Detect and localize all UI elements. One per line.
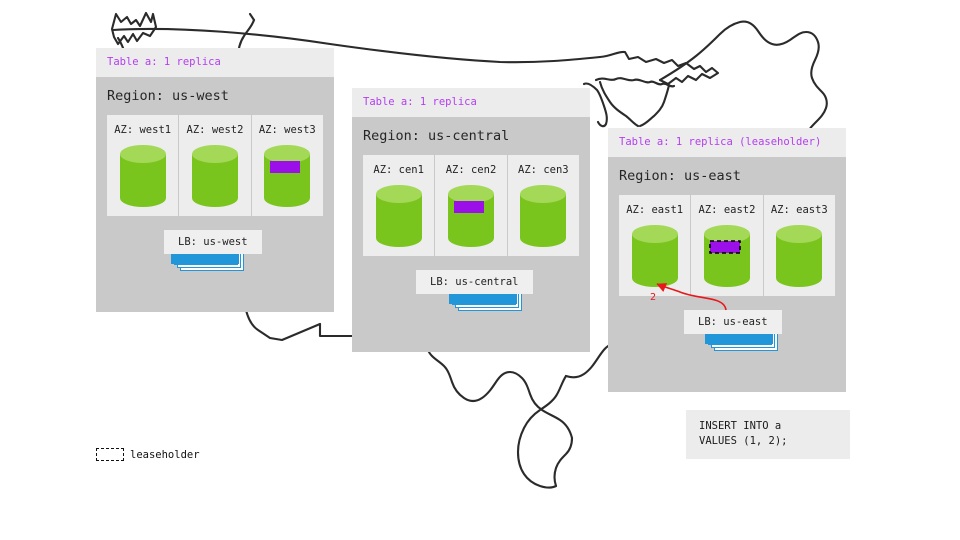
- az-label-west2: AZ: west2: [179, 124, 250, 136]
- replica-marker: [454, 201, 484, 213]
- az-cell-cen2[interactable]: AZ: cen2: [435, 155, 507, 256]
- az-label-east2: AZ: east2: [691, 204, 762, 216]
- load-balancer-us-east[interactable]: LB: us-east: [684, 310, 782, 334]
- cylinder-icon: [118, 143, 168, 209]
- load-balancer-us-west[interactable]: LB: us-west: [164, 230, 262, 254]
- az-strip-us-west: AZ: west1 AZ: west2: [107, 115, 323, 216]
- az-label-cen2: AZ: cen2: [435, 164, 506, 176]
- cylinder-icon: [374, 183, 424, 249]
- region-panel-us-east: Table a: 1 replica (leaseholder) Region:…: [608, 128, 846, 392]
- panel-header-us-west: Table a: 1 replica: [96, 48, 334, 77]
- node-cylinder-cen3[interactable]: [518, 183, 568, 253]
- az-cell-east1[interactable]: AZ: east1: [619, 195, 691, 296]
- region-title-us-east: Region: us-east: [619, 157, 835, 195]
- az-label-cen3: AZ: cen3: [508, 164, 579, 176]
- arrow-step-label-2: 2: [650, 292, 656, 303]
- node-cylinder-cen1[interactable]: [374, 183, 424, 253]
- az-label-west3: AZ: west3: [252, 124, 323, 136]
- panel-body-us-central: Region: us-central AZ: cen1 AZ: cen2: [352, 117, 590, 352]
- region-title-us-west: Region: us-west: [107, 77, 323, 115]
- az-label-east1: AZ: east1: [619, 204, 690, 216]
- node-cylinder-west2[interactable]: [190, 143, 240, 213]
- az-strip-us-east: AZ: east1 AZ: east2: [619, 195, 835, 296]
- region-title-us-central: Region: us-central: [363, 117, 579, 155]
- panel-header-us-east: Table a: 1 replica (leaseholder): [608, 128, 846, 157]
- sql-statement-note: INSERT INTO a VALUES (1, 2);: [686, 410, 850, 459]
- region-panel-us-central: Table a: 1 replica Region: us-central AZ…: [352, 88, 590, 352]
- az-label-cen1: AZ: cen1: [363, 164, 434, 176]
- cylinder-icon: [630, 223, 680, 289]
- panel-body-us-west: Region: us-west AZ: west1 AZ: west2: [96, 77, 334, 312]
- az-cell-cen1[interactable]: AZ: cen1: [363, 155, 435, 256]
- panel-header-us-central: Table a: 1 replica: [352, 88, 590, 117]
- region-panel-us-west: Table a: 1 replica Region: us-west AZ: w…: [96, 48, 334, 312]
- cylinder-icon: [702, 223, 752, 289]
- diagram-canvas: Table a: 1 replica Region: us-west AZ: w…: [0, 0, 960, 540]
- az-label-west1: AZ: west1: [107, 124, 178, 136]
- node-cylinder-west1[interactable]: [118, 143, 168, 213]
- cylinder-icon: [262, 143, 312, 209]
- az-cell-east2[interactable]: AZ: east2: [691, 195, 763, 296]
- node-cylinder-west3[interactable]: [262, 143, 312, 213]
- leaseholder-swatch-icon: [96, 448, 124, 461]
- cylinder-icon: [446, 183, 496, 249]
- node-cylinder-east3[interactable]: [774, 223, 824, 293]
- az-strip-us-central: AZ: cen1 AZ: cen2: [363, 155, 579, 256]
- az-cell-east3[interactable]: AZ: east3: [764, 195, 835, 296]
- cylinder-icon: [518, 183, 568, 249]
- replica-marker: [270, 161, 300, 173]
- node-cylinder-east2[interactable]: [702, 223, 752, 293]
- node-cylinder-cen2[interactable]: [446, 183, 496, 253]
- panel-body-us-east: Region: us-east AZ: east1 AZ: east2: [608, 157, 846, 392]
- az-cell-west2[interactable]: AZ: west2: [179, 115, 251, 216]
- node-cylinder-east1[interactable]: [630, 223, 680, 293]
- cylinder-icon: [774, 223, 824, 289]
- az-cell-west3[interactable]: AZ: west3: [252, 115, 323, 216]
- cylinder-icon: [190, 143, 240, 209]
- replica-marker-leaseholder: [710, 241, 740, 253]
- az-cell-west1[interactable]: AZ: west1: [107, 115, 179, 216]
- az-cell-cen3[interactable]: AZ: cen3: [508, 155, 579, 256]
- load-balancer-us-central[interactable]: LB: us-central: [416, 270, 533, 294]
- legend-label-leaseholder: leaseholder: [130, 449, 200, 461]
- az-label-east3: AZ: east3: [764, 204, 835, 216]
- legend: leaseholder: [96, 448, 200, 461]
